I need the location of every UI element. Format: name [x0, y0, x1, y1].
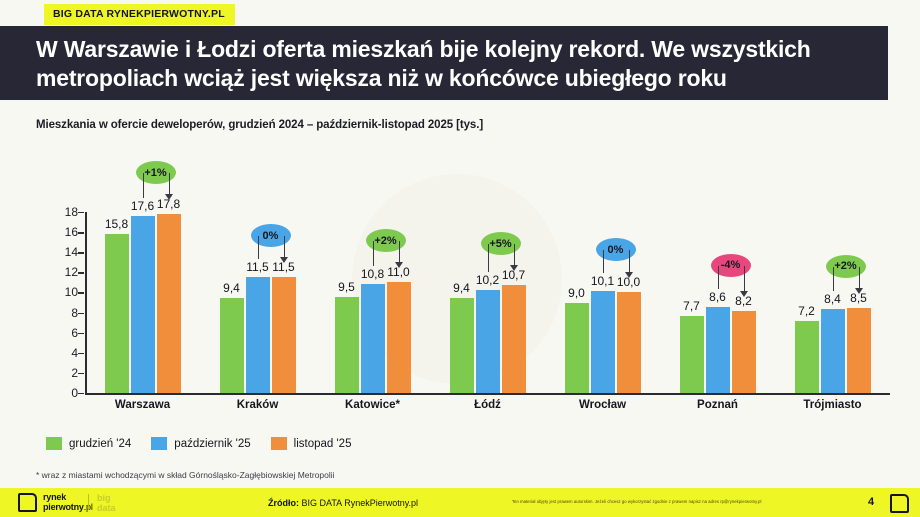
bar[interactable]: 9,5 [335, 297, 359, 393]
bar[interactable]: 8,4 [821, 309, 845, 393]
infographic-page: BIG DATA RYNEKPIERWOTNY.PL W Warszawie i… [0, 0, 920, 517]
legend-item[interactable]: listopad '25 [271, 437, 352, 450]
bar-group: 15,817,617,8Warszawa [105, 212, 181, 393]
arrowhead-icon [625, 272, 633, 278]
y-axis-tick-mark [78, 252, 84, 253]
bar[interactable]: 7,2 [795, 321, 819, 393]
arrowhead-icon [740, 291, 748, 297]
y-axis-tick-mark [78, 373, 84, 374]
bars-container: 15,817,617,8 [105, 212, 181, 393]
bigdata-logo: big data [97, 494, 116, 514]
bar[interactable]: 10,8 [361, 284, 385, 393]
y-axis-tick-mark [78, 333, 84, 334]
bar[interactable]: 7,7 [680, 316, 704, 393]
bars-container: 7,78,68,2 [680, 212, 756, 393]
bar[interactable]: 17,6 [131, 216, 155, 393]
y-axis-tick-mark [78, 232, 84, 233]
connector-line-left [718, 266, 720, 289]
legend-label: grudzień '24 [69, 438, 131, 450]
category-label: Katowice* [335, 399, 411, 411]
legend-swatch [271, 437, 287, 450]
bigdata-line-2: data [97, 504, 116, 514]
connector-arrow-right [744, 266, 746, 291]
source-value: BIG DATA RynekPierwotny.pl [302, 498, 419, 508]
category-label: Wrocław [565, 399, 641, 411]
page-number: 4 [868, 496, 874, 508]
connector-arrow-right [169, 173, 171, 194]
plot-area: 15,817,617,8Warszawa+1%9,411,511,5Kraków… [85, 212, 890, 393]
bars-container: 7,28,48,5 [795, 212, 871, 393]
legend-swatch [151, 437, 167, 450]
connector-line-left [373, 241, 375, 266]
chart-legend: grudzień '24październik '25listopad '25 [46, 437, 371, 450]
logo-divider [88, 494, 89, 510]
rynekpierwotny-logo[interactable]: rynek pierwotny.pl [18, 493, 93, 512]
connector-line-left [488, 244, 490, 272]
category-label: Poznań [680, 399, 756, 411]
footnote: * wraz z miastami wchodzącymi w skład Gó… [36, 470, 335, 480]
bar-chart: 024681012141618 15,817,617,8Warszawa+1%9… [0, 150, 920, 420]
y-axis-tick-mark [78, 272, 84, 273]
y-axis-tickmarks [0, 212, 92, 394]
square-logo-icon [18, 493, 37, 512]
bar[interactable]: 8,6 [706, 307, 730, 393]
connector-arrow-right [859, 267, 861, 288]
chart-subtitle: Mieszkania w ofercie deweloperów, grudzi… [36, 119, 483, 131]
copyright-microtext: Ten materiał objęty jest prawem autorski… [512, 499, 762, 504]
logo-line-2: pierwotny.pl [43, 503, 93, 513]
connector-arrow-right [399, 241, 401, 262]
legend-swatch [46, 437, 62, 450]
connector-line-left [143, 173, 145, 198]
category-label: Łódź [450, 399, 526, 411]
bar[interactable]: 10,0 [617, 292, 641, 393]
bar-value-label: 11,5 [246, 260, 268, 274]
arrowhead-icon [280, 257, 288, 263]
bar-value-label: 8,6 [709, 290, 726, 304]
bar[interactable]: 9,4 [220, 298, 244, 393]
bar-group: 7,78,68,2Poznań [680, 212, 756, 393]
logo-line-2-text: pierwotny [43, 502, 84, 512]
bar[interactable]: 10,2 [476, 290, 500, 393]
y-axis-tick-mark [78, 393, 84, 394]
bar[interactable]: 9,0 [565, 303, 589, 394]
bar[interactable]: 17,8 [157, 214, 181, 393]
category-label: Trójmiasto [795, 399, 871, 411]
connector-arrow-right [629, 250, 631, 272]
logo-text: rynek pierwotny.pl [43, 493, 93, 512]
bar-value-label: 9,4 [453, 281, 470, 295]
bars-container: 9,010,110,0 [565, 212, 641, 393]
bar-value-label: 10,1 [591, 274, 614, 288]
y-axis-tick-mark [78, 292, 84, 293]
bar[interactable]: 11,5 [272, 277, 296, 393]
bar-value-label: 10,2 [476, 273, 499, 287]
bar[interactable]: 9,4 [450, 298, 474, 393]
y-axis-tick-mark [78, 353, 84, 354]
source-label: Źródło: [268, 498, 299, 508]
legend-item[interactable]: październik '25 [151, 437, 250, 450]
bar-value-label: 17,6 [131, 199, 154, 213]
bar-value-label: 7,2 [798, 304, 815, 318]
bar-value-label: 10,8 [361, 267, 384, 281]
bar-group: 7,28,48,5Trójmiasto [795, 212, 871, 393]
headline: W Warszawie i Łodzi oferta mieszkań bije… [0, 26, 888, 100]
connector-arrow-right [284, 236, 286, 257]
arrowhead-icon [855, 288, 863, 294]
category-label: Kraków [220, 399, 296, 411]
legend-label: październik '25 [174, 438, 250, 450]
bar[interactable]: 11,5 [246, 277, 270, 393]
bar-value-label: 7,7 [683, 299, 700, 313]
bar[interactable]: 11,0 [387, 282, 411, 393]
arrowhead-icon [510, 265, 518, 271]
x-axis-line [85, 393, 890, 395]
arrowhead-icon [165, 194, 173, 200]
y-axis-tick-mark [78, 313, 84, 314]
footer-square-logo-icon [890, 494, 909, 513]
connector-arrow-right [514, 244, 516, 265]
bar-value-label: 15,8 [105, 217, 128, 231]
category-label: Warszawa [105, 399, 181, 411]
brand-badge: BIG DATA RYNEKPIERWOTNY.PL [44, 4, 235, 25]
bar[interactable]: 8,5 [847, 308, 871, 393]
arrowhead-icon [395, 262, 403, 268]
connector-line-left [833, 267, 835, 291]
bar-value-label: 9,5 [338, 280, 355, 294]
connector-line-left [603, 250, 605, 273]
legend-item[interactable]: grudzień '24 [46, 437, 131, 450]
bar[interactable]: 10,7 [502, 285, 526, 393]
bar-value-label: 9,4 [223, 281, 240, 295]
bar[interactable]: 15,8 [105, 234, 129, 393]
legend-label: listopad '25 [294, 438, 352, 450]
footer-bar: rynek pierwotny.pl big data Źródło: BIG … [0, 488, 920, 517]
bar[interactable]: 8,2 [732, 311, 756, 393]
bar[interactable]: 10,1 [591, 291, 615, 393]
connector-line-left [258, 236, 260, 259]
bar-value-label: 8,4 [824, 292, 841, 306]
bar-group: 9,010,110,0Wrocław [565, 212, 641, 393]
y-axis-tick-mark [78, 212, 84, 213]
source-text: Źródło: BIG DATA RynekPierwotny.pl [268, 498, 418, 508]
bar-value-label: 9,0 [568, 286, 585, 300]
